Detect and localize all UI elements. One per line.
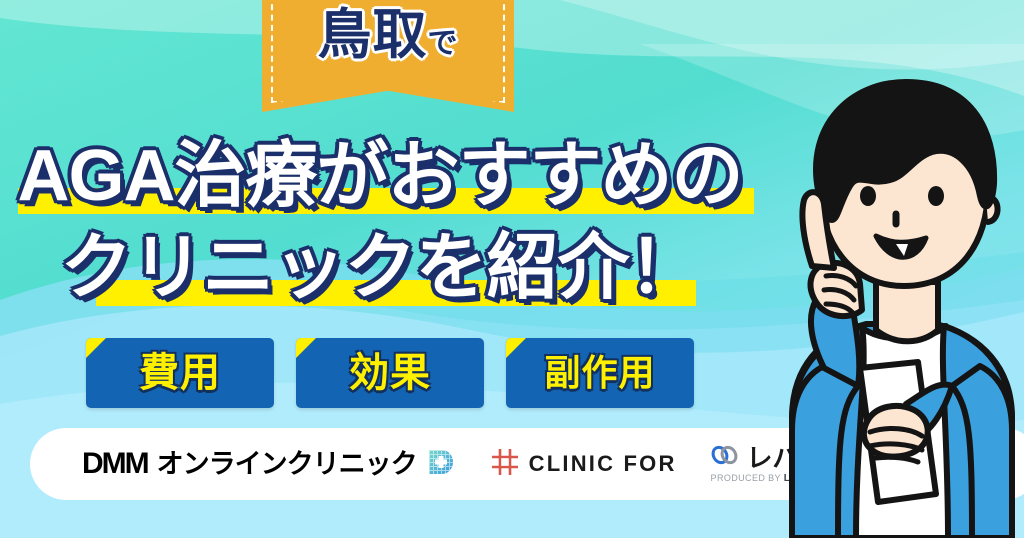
corner-fold-icon xyxy=(296,338,316,358)
clinic-for-wordmark: CLINIC FOR xyxy=(529,453,677,475)
headline-text-2: クリニックを紹介！ xyxy=(0,224,760,312)
rebacli-wordmark: レバクリ xyxy=(747,445,851,471)
partner-logo-bar: DMM オンラインクリニック xyxy=(30,428,1024,500)
rebacli-produced-by: PRODUCED BY Leverages xyxy=(711,474,851,484)
logo-dmm-online-clinic[interactable]: DMM オンラインクリニック xyxy=(82,447,456,482)
headline-text-1: AGA治療がおすすめの xyxy=(0,132,760,220)
corner-fold-icon xyxy=(506,338,526,358)
topic-tag-effect[interactable]: 効果 xyxy=(296,338,484,408)
page-title: AGA治療がおすすめの クリニックを紹介！ xyxy=(0,132,760,316)
logo-clinic-for[interactable]: CLINIC FOR xyxy=(490,448,677,481)
dmm-service-name: オンラインクリニック xyxy=(157,451,417,478)
region-particle: で xyxy=(428,27,459,60)
aga-clinic-promo-banner: 鳥取で AGA治療がおすすめの クリニックを紹介！ 費用 効果 副作用 DM xyxy=(0,0,1024,538)
topic-tag-side-effects[interactable]: 副作用 xyxy=(506,338,694,408)
region-label: 鳥取で xyxy=(262,8,514,62)
tag-label: 副作用 xyxy=(544,355,655,391)
headline-line-2: クリニックを紹介！ xyxy=(0,224,760,316)
corner-fold-icon xyxy=(86,338,106,358)
tag-label: 効果 xyxy=(349,353,431,393)
tag-label: 費用 xyxy=(139,353,221,393)
region-ribbon: 鳥取で xyxy=(262,0,514,112)
produced-by-prefix: PRODUCED BY xyxy=(711,473,781,483)
headline-line-1: AGA治療がおすすめの xyxy=(0,132,760,224)
topic-tag-cost[interactable]: 費用 xyxy=(86,338,274,408)
region-name: 鳥取 xyxy=(318,5,428,65)
chain-link-icon xyxy=(711,444,739,471)
topic-tag-list: 費用 効果 副作用 xyxy=(86,338,694,408)
logo-rebacli[interactable]: レバクリ PRODUCED BY Leverages xyxy=(711,444,851,484)
dmm-pixel-cross-icon xyxy=(426,447,456,482)
dmm-wordmark: DMM xyxy=(82,449,148,479)
red-cross-icon xyxy=(490,448,520,481)
leverages-name: Leverages xyxy=(784,473,837,484)
